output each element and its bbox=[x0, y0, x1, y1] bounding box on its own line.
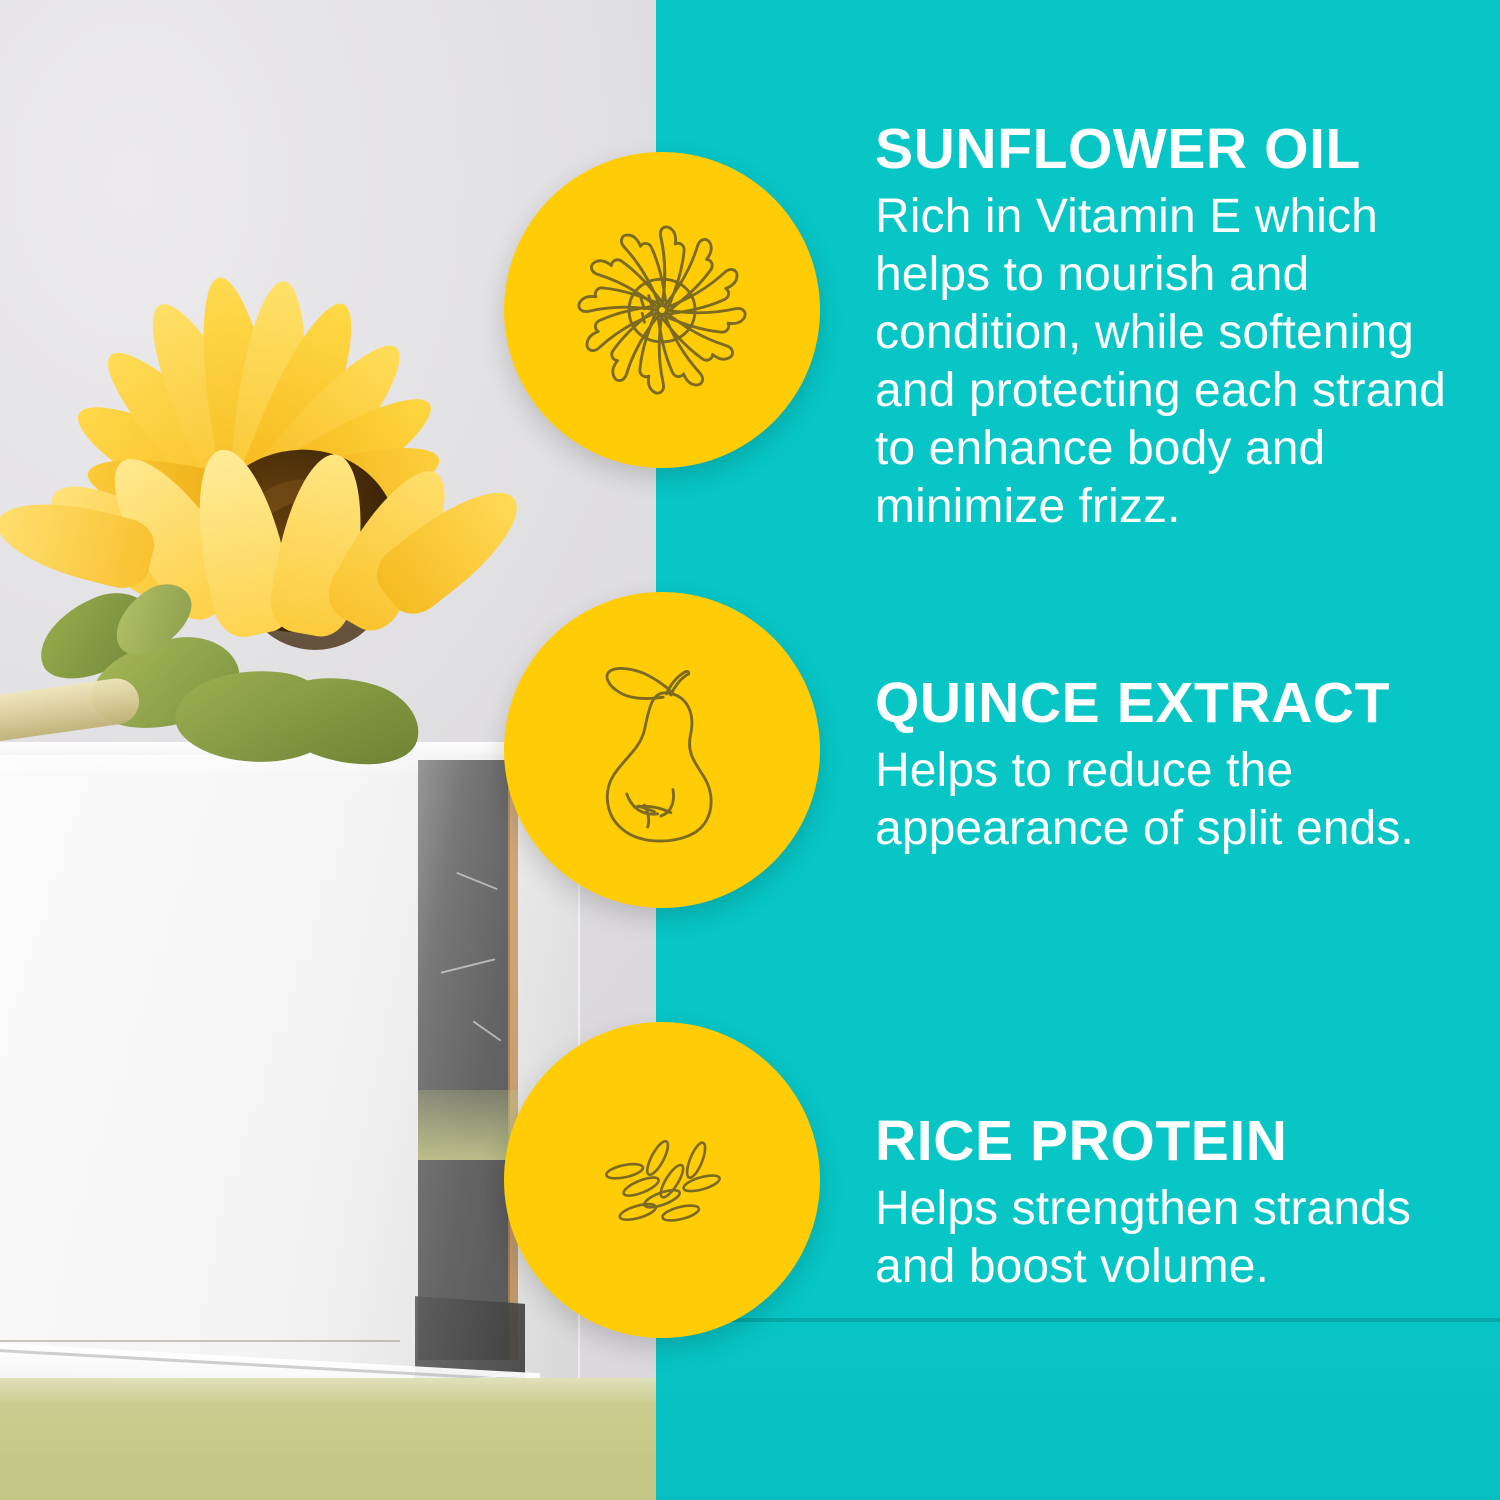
infographic-page: SUNFLOWER OIL Rich in Vitamin E which he… bbox=[0, 0, 1500, 1500]
table-surface bbox=[0, 1378, 656, 1500]
ingredient-heading: SUNFLOWER OIL bbox=[875, 118, 1475, 180]
ingredient-text-rice-protein: RICE PROTEIN Helps strengthen strands an… bbox=[875, 1110, 1465, 1296]
ingredient-heading: QUINCE EXTRACT bbox=[875, 672, 1465, 734]
ingredient-body: Helps strengthen strands and boost volum… bbox=[875, 1180, 1465, 1296]
bottom-divider bbox=[674, 1318, 1500, 1322]
rice-grains-icon bbox=[552, 1070, 772, 1290]
acrylic-block-green-reflection bbox=[418, 1090, 518, 1160]
ingredient-body: Helps to reduce the appearance of split … bbox=[875, 742, 1465, 858]
sunflower-stem bbox=[0, 676, 142, 755]
ingredient-text-quince-extract: QUINCE EXTRACT Helps to reduce the appea… bbox=[875, 672, 1465, 858]
daisy-flower-icon bbox=[552, 200, 772, 420]
acrylic-block-edge-highlight bbox=[508, 760, 518, 1360]
acrylic-block-seam bbox=[0, 1340, 400, 1342]
ingredient-body: Rich in Vitamin E which helps to nourish… bbox=[875, 188, 1475, 536]
ingredient-badge-sunflower-oil[interactable] bbox=[504, 152, 820, 468]
ingredient-heading: RICE PROTEIN bbox=[875, 1110, 1465, 1172]
acrylic-block-side-face bbox=[418, 760, 510, 1360]
ingredient-badge-quince-extract[interactable] bbox=[504, 592, 820, 908]
ingredient-text-sunflower-oil: SUNFLOWER OIL Rich in Vitamin E which he… bbox=[875, 118, 1475, 536]
sunflower-photo bbox=[0, 200, 580, 820]
ingredient-badge-rice-protein[interactable] bbox=[504, 1022, 820, 1338]
pear-fruit-icon bbox=[552, 640, 772, 860]
